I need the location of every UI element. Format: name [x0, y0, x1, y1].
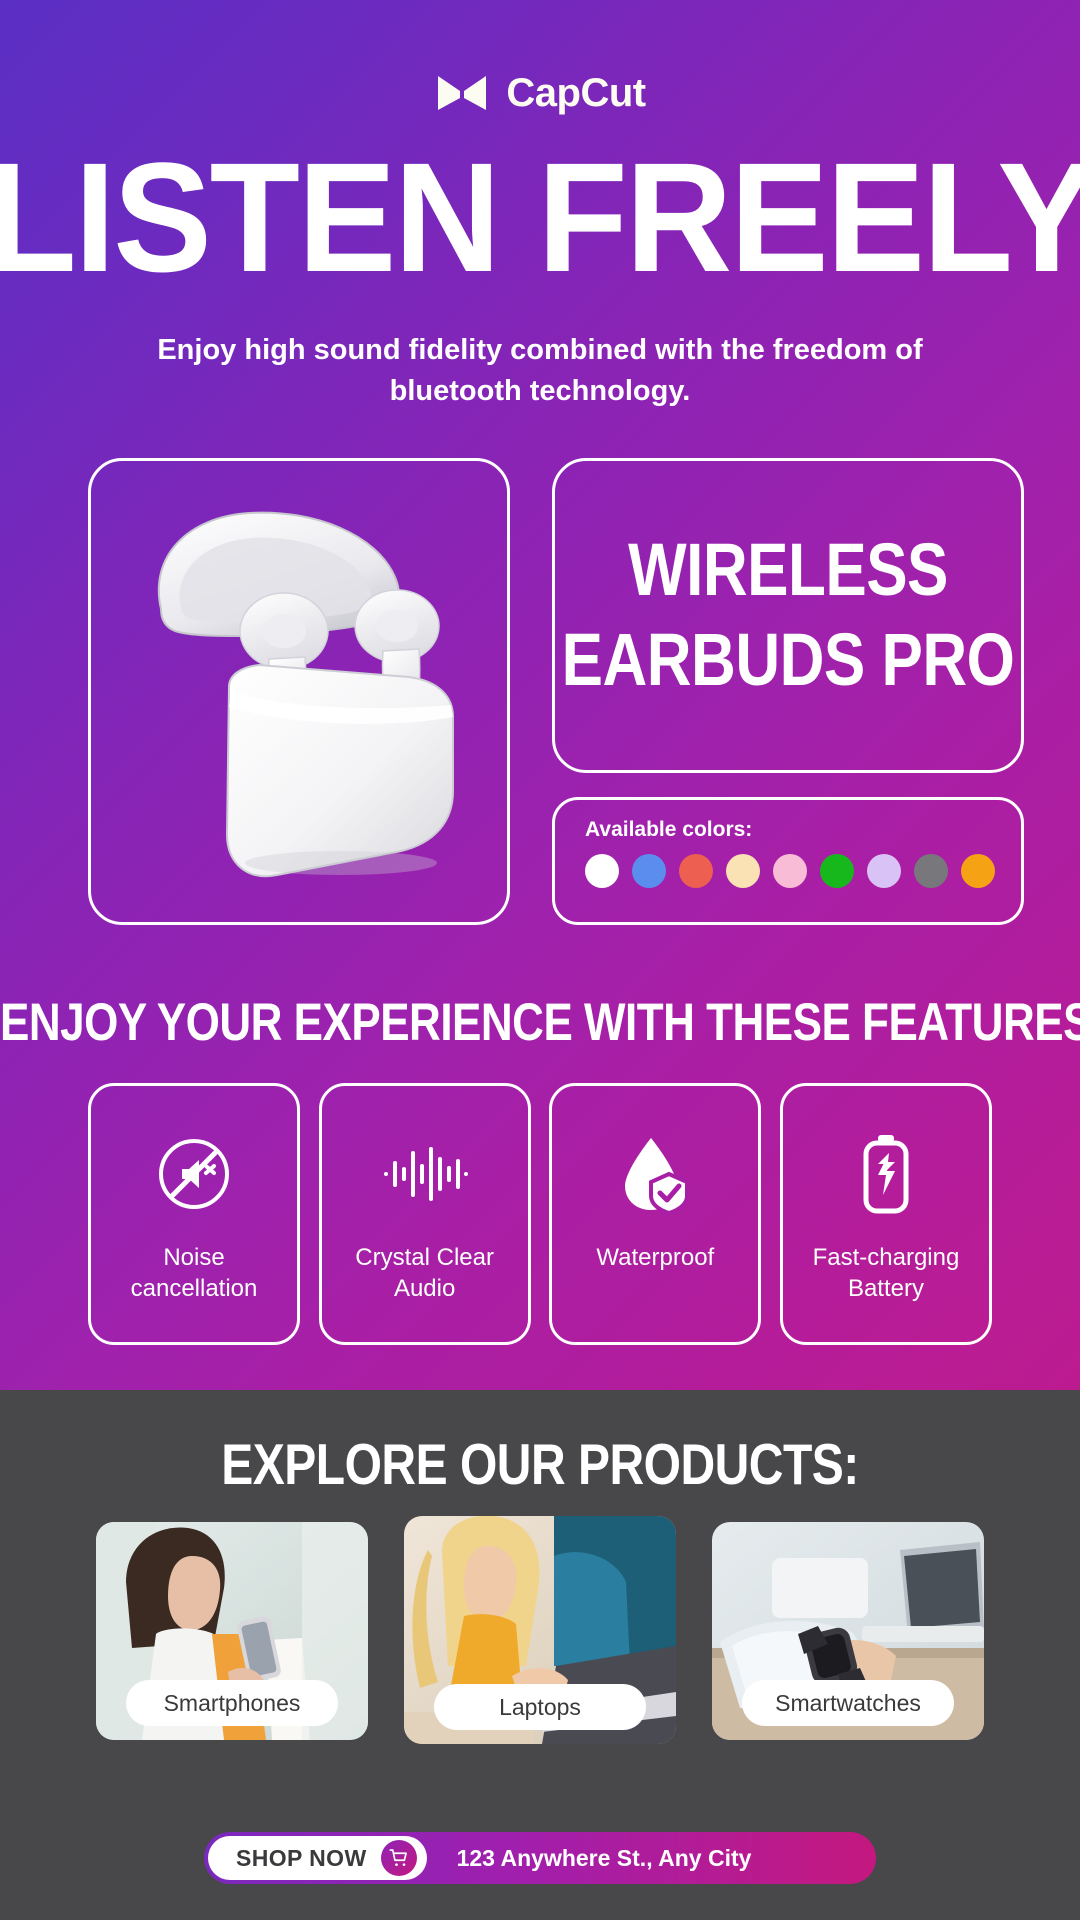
color-swatch-green[interactable]: [820, 854, 854, 888]
shopping-cart-icon: [381, 1840, 417, 1876]
color-swatch-coral-red[interactable]: [679, 854, 713, 888]
color-swatch-row: [585, 854, 991, 888]
brand-logo: CapCut: [0, 72, 1080, 114]
explore-section: EXPLORE OUR PRODUCTS:: [0, 1390, 1080, 1920]
color-swatch-cream[interactable]: [726, 854, 760, 888]
feature-label: Noise cancellation: [91, 1242, 297, 1304]
feature-label: Fast-charging Battery: [783, 1242, 989, 1304]
capcut-bowtie-icon: [434, 72, 490, 114]
page-title: LISTEN FREELY: [0, 140, 1080, 296]
feature-card-waterproof[interactable]: Waterproof: [549, 1083, 761, 1345]
muted-speaker-icon: [156, 1132, 232, 1216]
product-tile-smartphones[interactable]: Smartphones: [96, 1522, 368, 1740]
product-title-line1: WIRELESS: [628, 531, 948, 610]
hero-subtitle: Enjoy high sound fidelity combined with …: [88, 330, 992, 412]
product-label-chip: Smartphones: [126, 1680, 338, 1726]
shop-now-label: SHOP NOW: [236, 1845, 367, 1872]
available-colors-card: Available colors:: [552, 797, 1024, 925]
brand-name: CapCut: [506, 73, 645, 113]
cta-bar[interactable]: SHOP NOW 123 Anywhere St., Any City: [204, 1832, 876, 1884]
features-heading: ENJOY YOUR EXPERIENCE WITH THESE FEATURE…: [0, 993, 1080, 1053]
features-row: Noise cancellation: [88, 1083, 992, 1345]
color-swatch-orange[interactable]: [961, 854, 995, 888]
products-row: Smartphones: [96, 1522, 984, 1744]
poster-root: CapCut LISTEN FREELY Enjoy high sound fi…: [0, 0, 1080, 1920]
color-swatch-blue[interactable]: [632, 854, 666, 888]
feature-label: Crystal Clear Audio: [322, 1242, 528, 1304]
color-swatch-white[interactable]: [585, 854, 619, 888]
battery-bolt-icon: [858, 1132, 914, 1216]
product-label-chip: Smartwatches: [742, 1680, 954, 1726]
water-drop-shield-icon: [617, 1132, 693, 1216]
sound-wave-icon: [382, 1132, 468, 1216]
shop-now-button[interactable]: SHOP NOW: [208, 1836, 427, 1880]
explore-heading: EXPLORE OUR PRODUCTS:: [0, 1433, 1080, 1499]
color-swatch-pink[interactable]: [773, 854, 807, 888]
color-swatch-gray[interactable]: [914, 854, 948, 888]
product-image-card: [88, 458, 510, 925]
available-colors-label: Available colors:: [585, 818, 991, 842]
cta-address: 123 Anywhere St., Any City: [457, 1845, 752, 1872]
product-title-card: WIRELESS EARBUDS PRO: [552, 458, 1024, 773]
product-tile-smartwatches[interactable]: Smartwatches: [712, 1522, 984, 1740]
feature-label: Waterproof: [586, 1242, 724, 1273]
color-swatch-lavender[interactable]: [867, 854, 901, 888]
product-title-line2: EARBUDS PRO: [562, 621, 1015, 700]
product-label-chip: Laptops: [434, 1684, 646, 1730]
product-tile-laptops[interactable]: Laptops: [404, 1516, 676, 1744]
feature-card-noise-cancellation[interactable]: Noise cancellation: [88, 1083, 300, 1345]
earbuds-case-illustration: [109, 491, 495, 891]
hero-section: CapCut LISTEN FREELY Enjoy high sound fi…: [0, 0, 1080, 1390]
feature-card-fast-charging-battery[interactable]: Fast-charging Battery: [780, 1083, 992, 1345]
feature-card-crystal-clear-audio[interactable]: Crystal Clear Audio: [319, 1083, 531, 1345]
